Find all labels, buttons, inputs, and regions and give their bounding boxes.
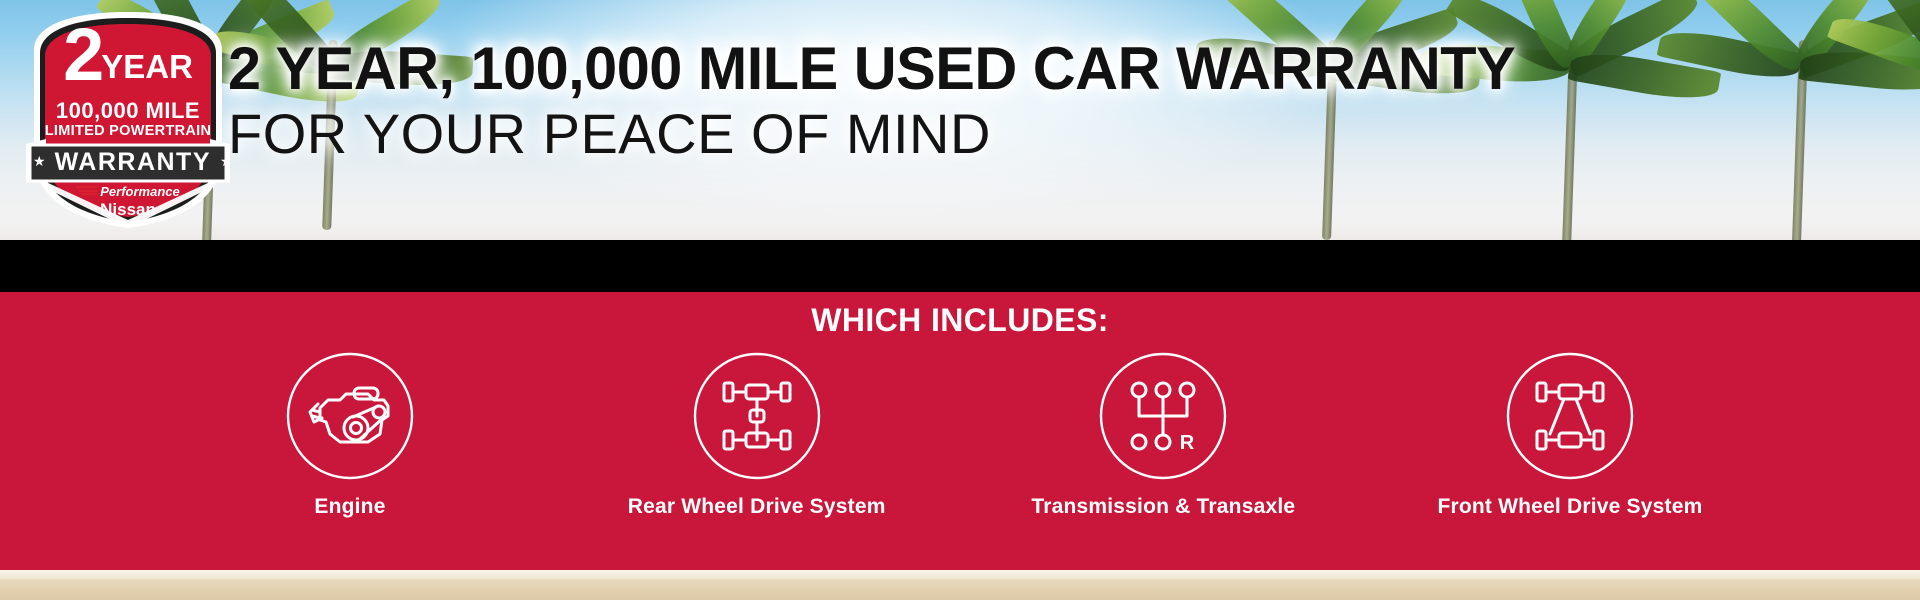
warranty-banner: 2YEAR 100,000 MILE LIMITED POWERTRAIN ★W…: [0, 0, 1920, 600]
feature-label: Transmission & Transaxle: [993, 495, 1333, 519]
palm-tree: [1810, 0, 1920, 240]
black-divider: [0, 240, 1920, 292]
features-row: Engine: [180, 350, 1740, 519]
includes-title: WHICH INCLUDES:: [0, 302, 1920, 339]
transmission-reverse-label: R: [1180, 432, 1195, 454]
feature-front-wheel-drive[interactable]: Front Wheel Drive System: [1400, 350, 1740, 519]
feature-label: Engine: [180, 495, 520, 519]
surf-line: [0, 570, 1920, 579]
front-wheel-drive-icon: [1504, 350, 1636, 482]
feature-rear-wheel-drive[interactable]: Rear Wheel Drive System: [587, 350, 927, 519]
warranty-badge: 2YEAR 100,000 MILE LIMITED POWERTRAIN ★W…: [24, 6, 232, 232]
engine-icon: [284, 350, 416, 482]
sun-glow: [433, 0, 1333, 217]
feature-engine[interactable]: Engine: [180, 350, 520, 519]
beach-sky-background: [0, 0, 1920, 240]
feature-label: Front Wheel Drive System: [1400, 495, 1740, 519]
feature-transmission[interactable]: R Transmission & Transaxle: [993, 350, 1333, 519]
palm-tree: [1180, 0, 1480, 240]
includes-panel: WHICH INCLUDES:: [0, 292, 1920, 570]
badge-shield-shape: [24, 6, 232, 232]
palm-tree: [1420, 0, 1720, 240]
palm-tree: [1650, 0, 1920, 240]
sand-strip: [0, 570, 1920, 600]
transmission-icon: R: [1097, 350, 1229, 482]
rear-wheel-drive-icon: [691, 350, 823, 482]
feature-label: Rear Wheel Drive System: [587, 495, 927, 519]
